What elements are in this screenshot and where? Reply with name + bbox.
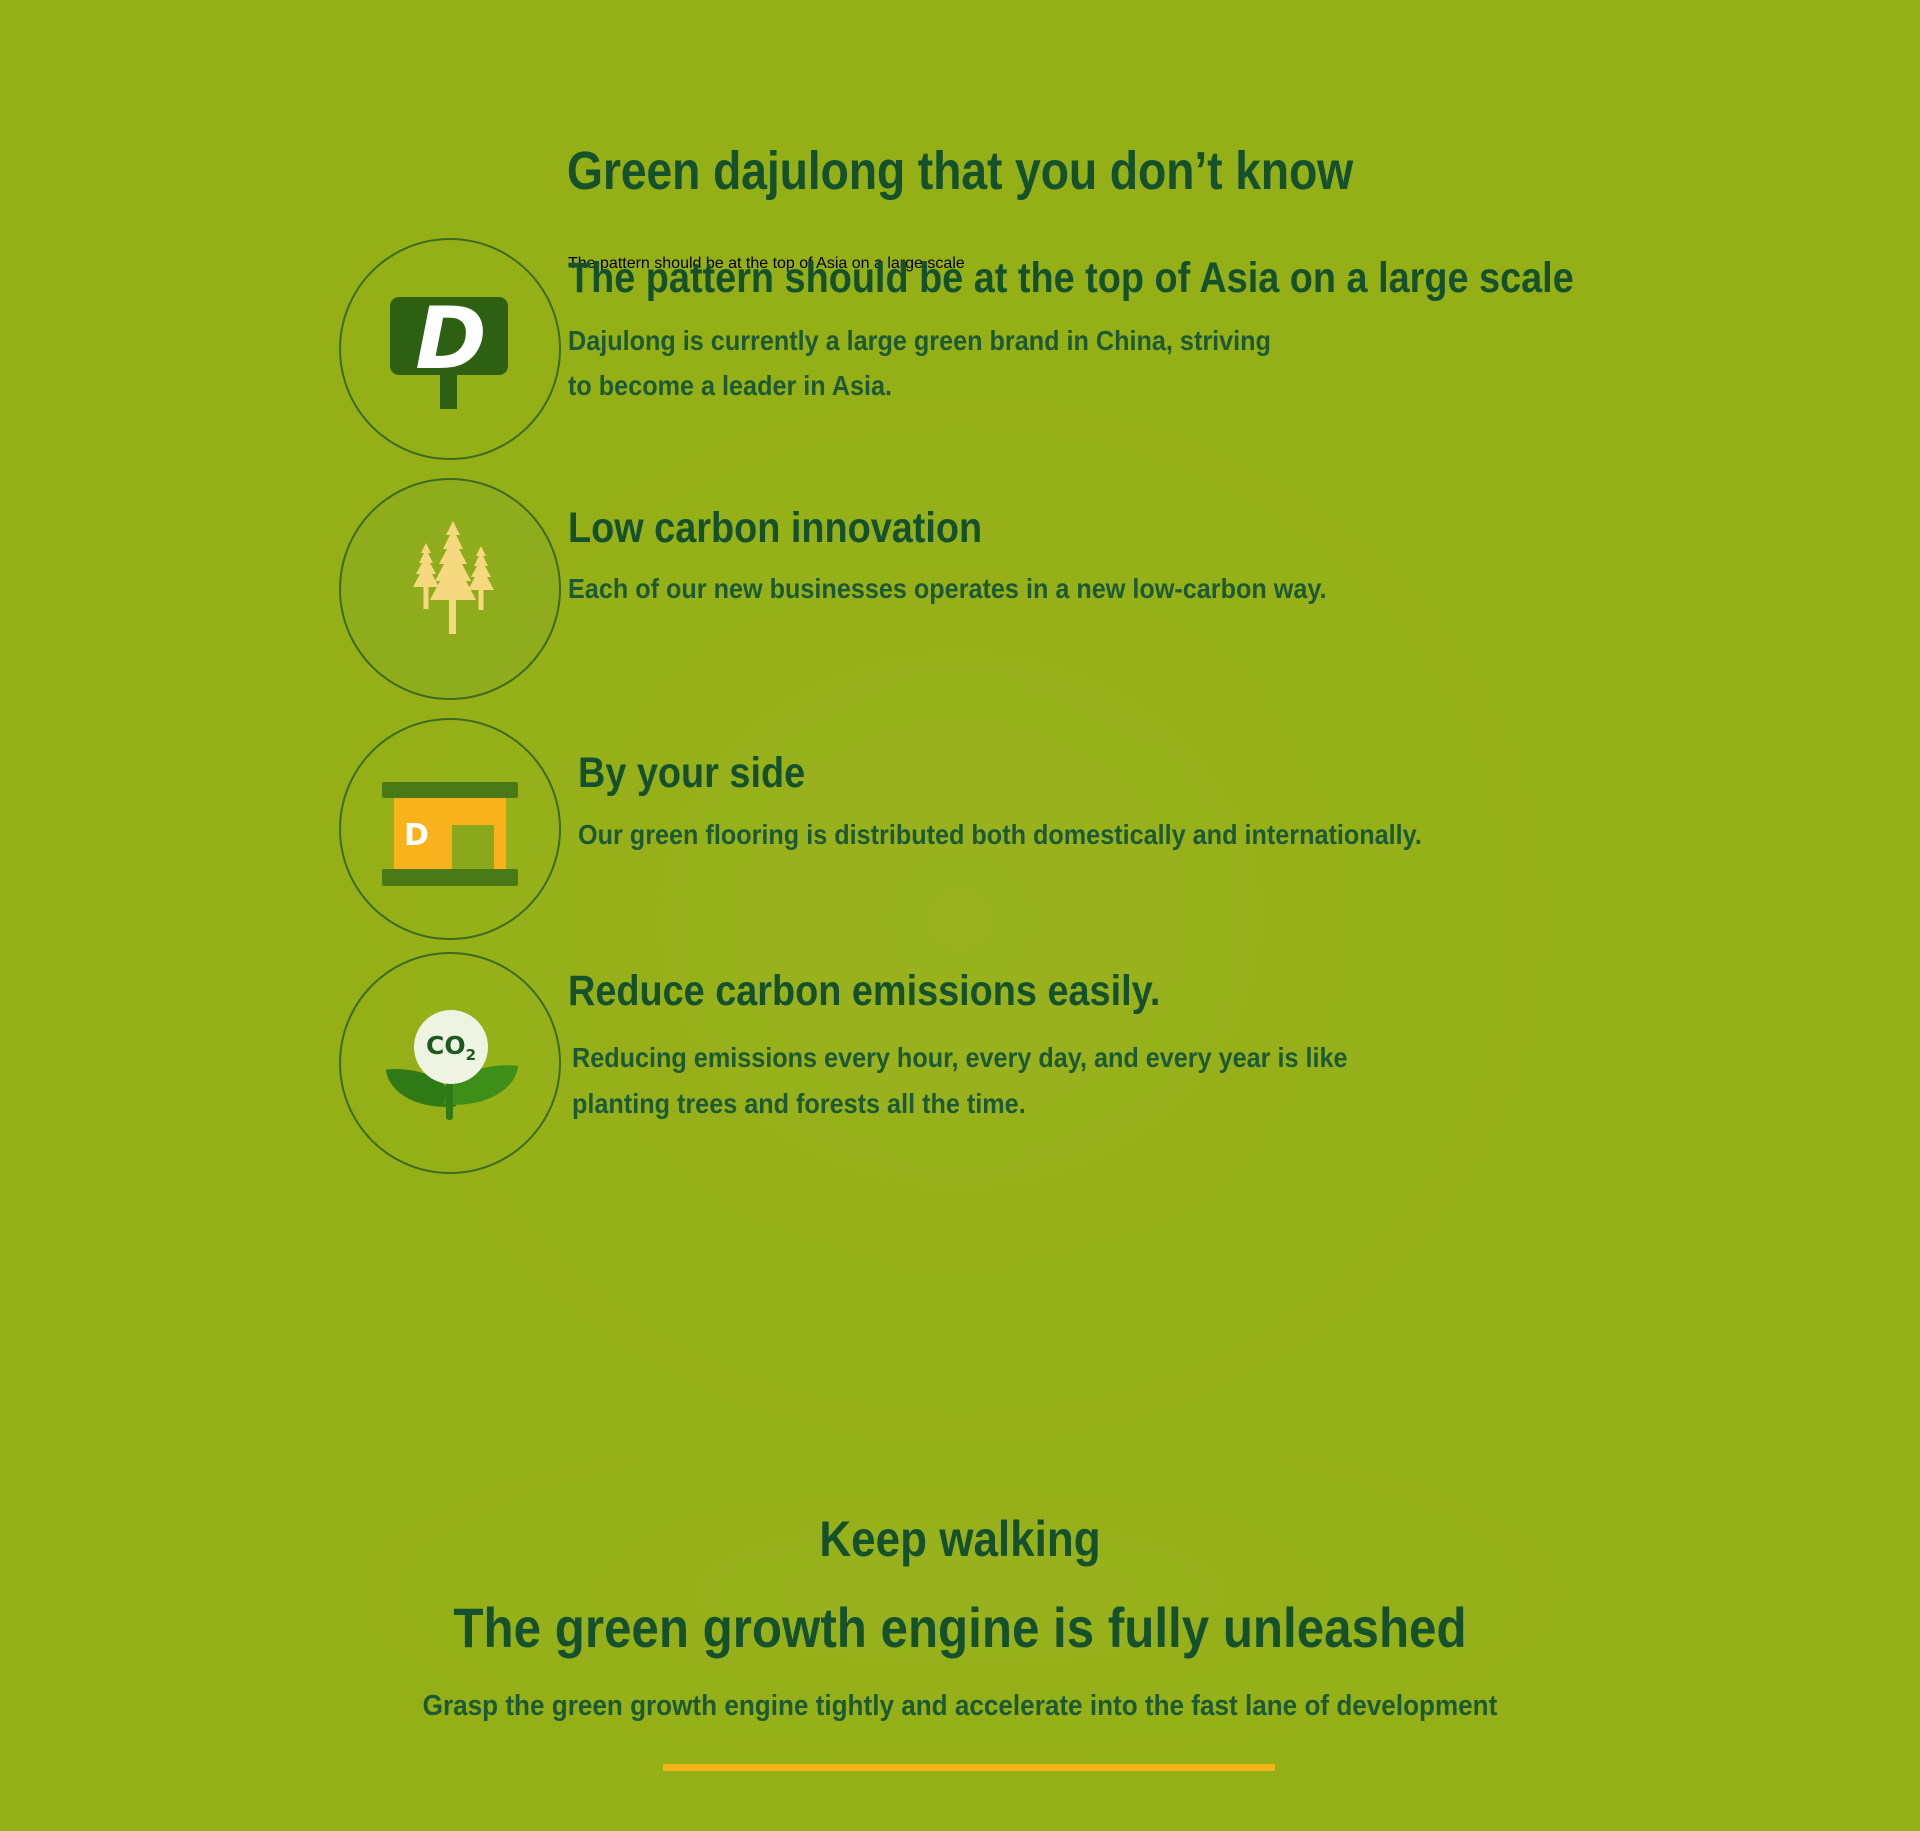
co2-disc: CO2 bbox=[414, 1010, 488, 1084]
feature-2-body-line-1: Each of our new businesses operates in a… bbox=[568, 566, 1327, 611]
footer-line-3: Grasp the green growth engine tightly an… bbox=[96, 1690, 1824, 1723]
storefront-letter: D bbox=[404, 818, 429, 853]
pine-trees-glyph bbox=[375, 519, 525, 659]
pine-trees-icon bbox=[339, 478, 561, 700]
storefront-glyph: D bbox=[382, 770, 518, 888]
feature-2-heading-text: Low carbon innovation bbox=[568, 505, 982, 552]
storefront-roof bbox=[382, 782, 518, 798]
feature-3-heading-text: By your side bbox=[578, 750, 805, 797]
feature-1-body-line-1: Dajulong is currently a large green bran… bbox=[568, 318, 1271, 363]
footer-accent-rule bbox=[663, 1764, 1275, 1771]
feature-3-body-line-1: Our green flooring is distributed both d… bbox=[578, 812, 1422, 857]
storefront-icon: D bbox=[339, 718, 561, 940]
footer-line-1: Keep walking bbox=[115, 1510, 1805, 1568]
feature-4-body-line-2: planting trees and forests all the time. bbox=[572, 1081, 1026, 1126]
storefront-base bbox=[382, 869, 518, 886]
co2-label: CO2 bbox=[426, 1031, 476, 1064]
co2-leaf-glyph: CO2 bbox=[380, 1004, 520, 1122]
footer-line-2: The green growth engine is fully unleash… bbox=[115, 1595, 1805, 1660]
d-sign-glyph: D bbox=[385, 287, 515, 411]
d-sign-icon: D bbox=[339, 238, 561, 460]
feature-4-heading-text: Reduce carbon emissions easily. bbox=[568, 968, 1160, 1015]
co2-leaf-icon: CO2 bbox=[339, 952, 561, 1174]
feature-4-body-line-1: Reducing emissions every hour, every day… bbox=[572, 1035, 1348, 1080]
storefront-door bbox=[452, 825, 494, 869]
feature-1-heading-text: The pattern should be at the top of Asia… bbox=[568, 255, 1574, 302]
d-sign-letter: D bbox=[385, 287, 515, 391]
page-title: Green dajulong that you don’t know bbox=[134, 140, 1785, 202]
feature-1-body-line-2: to become a leader in Asia. bbox=[568, 363, 892, 408]
